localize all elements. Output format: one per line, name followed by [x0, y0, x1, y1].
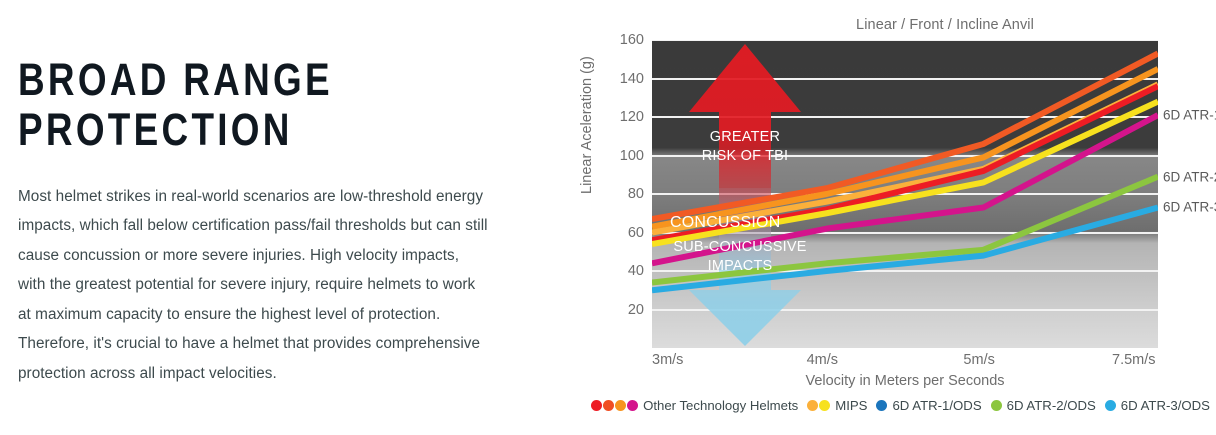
y-tick-label-100: 100	[600, 148, 644, 164]
page-title: BROAD RANGE PROTECTION	[18, 55, 430, 156]
y-tick-label-60: 60	[600, 225, 644, 241]
y-tick-label-80: 80	[600, 186, 644, 202]
intro-panel: BROAD RANGE PROTECTION Most helmet strik…	[0, 0, 560, 435]
x-tick-label-0: 3m/s	[652, 352, 683, 368]
y-tick-label-40: 40	[600, 263, 644, 279]
legend-item-2[interactable]: 6D ATR-1/ODS	[876, 398, 981, 413]
legend-dot-icon	[591, 400, 602, 411]
y-axis-title: Linear Aceleration (g)	[579, 56, 595, 194]
legend-item-3[interactable]: 6D ATR-2/ODS	[991, 398, 1096, 413]
plot-area: GREATER RISK OF TBI CONCUSSION SUB-CONCU…	[652, 40, 1158, 348]
legend-swatches	[991, 400, 1002, 411]
chart-title: Linear / Front / Incline Anvil	[735, 17, 1155, 33]
end-label-6d-atr-2: 6D ATR-2	[1163, 169, 1216, 184]
chart-panel: Linear / Front / Incline Anvil Linear Ac…	[585, 0, 1216, 435]
legend-dot-icon	[1105, 400, 1116, 411]
x-tick-label-2: 5m/s	[963, 352, 994, 368]
x-tick-label-1: 4m/s	[807, 352, 838, 368]
legend-item-0[interactable]: Other Technology Helmets	[591, 398, 798, 413]
legend-label: 6D ATR-1/ODS	[892, 398, 981, 413]
x-axis-title: Velocity in Meters per Seconds	[652, 373, 1158, 389]
legend-dot-icon	[819, 400, 830, 411]
end-label-6d-atr-1: 6D ATR-1	[1163, 108, 1216, 123]
legend-item-1[interactable]: MIPS	[807, 398, 867, 413]
legend-dot-icon	[807, 400, 818, 411]
legend-swatches	[1105, 400, 1116, 411]
legend-label: 6D ATR-3/ODS	[1121, 398, 1210, 413]
legend-label: 6D ATR-2/ODS	[1007, 398, 1096, 413]
legend-label: MIPS	[835, 398, 867, 413]
legend-swatches	[807, 400, 830, 411]
legend-swatches	[876, 400, 887, 411]
y-tick-label-160: 160	[600, 32, 644, 48]
end-label-6d-atr-3: 6D ATR-3	[1163, 200, 1216, 215]
legend-swatches	[591, 400, 638, 411]
y-tick-label-120: 120	[600, 109, 644, 125]
legend-dot-icon	[615, 400, 626, 411]
chart-legend: Other Technology HelmetsMIPS6D ATR-1/ODS…	[585, 398, 1216, 413]
legend-item-4[interactable]: 6D ATR-3/ODS	[1105, 398, 1210, 413]
legend-dot-icon	[627, 400, 638, 411]
legend-dot-icon	[603, 400, 614, 411]
page-root: BROAD RANGE PROTECTION Most helmet strik…	[0, 0, 1216, 435]
legend-label: Other Technology Helmets	[643, 398, 798, 413]
legend-dot-icon	[991, 400, 1002, 411]
y-tick-label-140: 140	[600, 71, 644, 87]
y-tick-label-20: 20	[600, 302, 644, 318]
series-lines	[652, 40, 1158, 348]
intro-paragraph: Most helmet strikes in real-world scenar…	[18, 182, 488, 389]
x-tick-label-3: 7.5m/s	[1112, 352, 1156, 368]
legend-dot-icon	[876, 400, 887, 411]
